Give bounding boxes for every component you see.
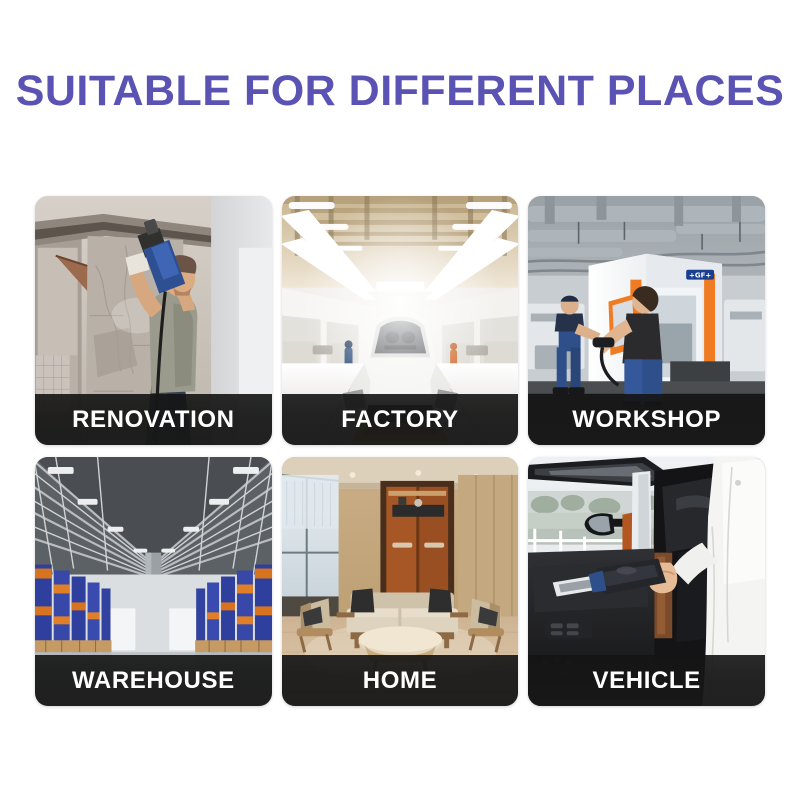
caption-bar-home: HOME [282, 655, 519, 706]
caption-text-warehouse: WAREHOUSE [72, 668, 235, 694]
caption-bar-workshop: WORKSHOP [528, 394, 765, 445]
svg-text:+GF+: +GF+ [689, 272, 711, 280]
place-card-warehouse[interactable]: WAREHOUSE [35, 457, 272, 706]
promo-banner: SUITABLE FOR DIFFERENT PLACES [0, 0, 800, 800]
caption-bar-factory: FACTORY [282, 394, 519, 445]
caption-text-vehicle: VEHICLE [593, 668, 701, 694]
place-card-workshop[interactable]: +GF+ [528, 196, 765, 445]
page-title: SUITABLE FOR DIFFERENT PLACES [0, 66, 800, 116]
place-card-factory[interactable]: FACTORY [282, 196, 519, 445]
caption-bar-renovation: RENOVATION [35, 394, 272, 445]
place-card-renovation[interactable]: RENOVATION [35, 196, 272, 445]
places-grid: RENOVATION [35, 196, 765, 706]
caption-text-factory: FACTORY [341, 407, 459, 433]
place-card-vehicle[interactable]: VEHICLE [528, 457, 765, 706]
caption-text-workshop: WORKSHOP [572, 407, 721, 433]
caption-bar-vehicle: VEHICLE [528, 655, 765, 706]
place-card-home[interactable]: HOME [282, 457, 519, 706]
caption-text-renovation: RENOVATION [72, 407, 234, 433]
caption-text-home: HOME [363, 668, 437, 694]
caption-bar-warehouse: WAREHOUSE [35, 655, 272, 706]
